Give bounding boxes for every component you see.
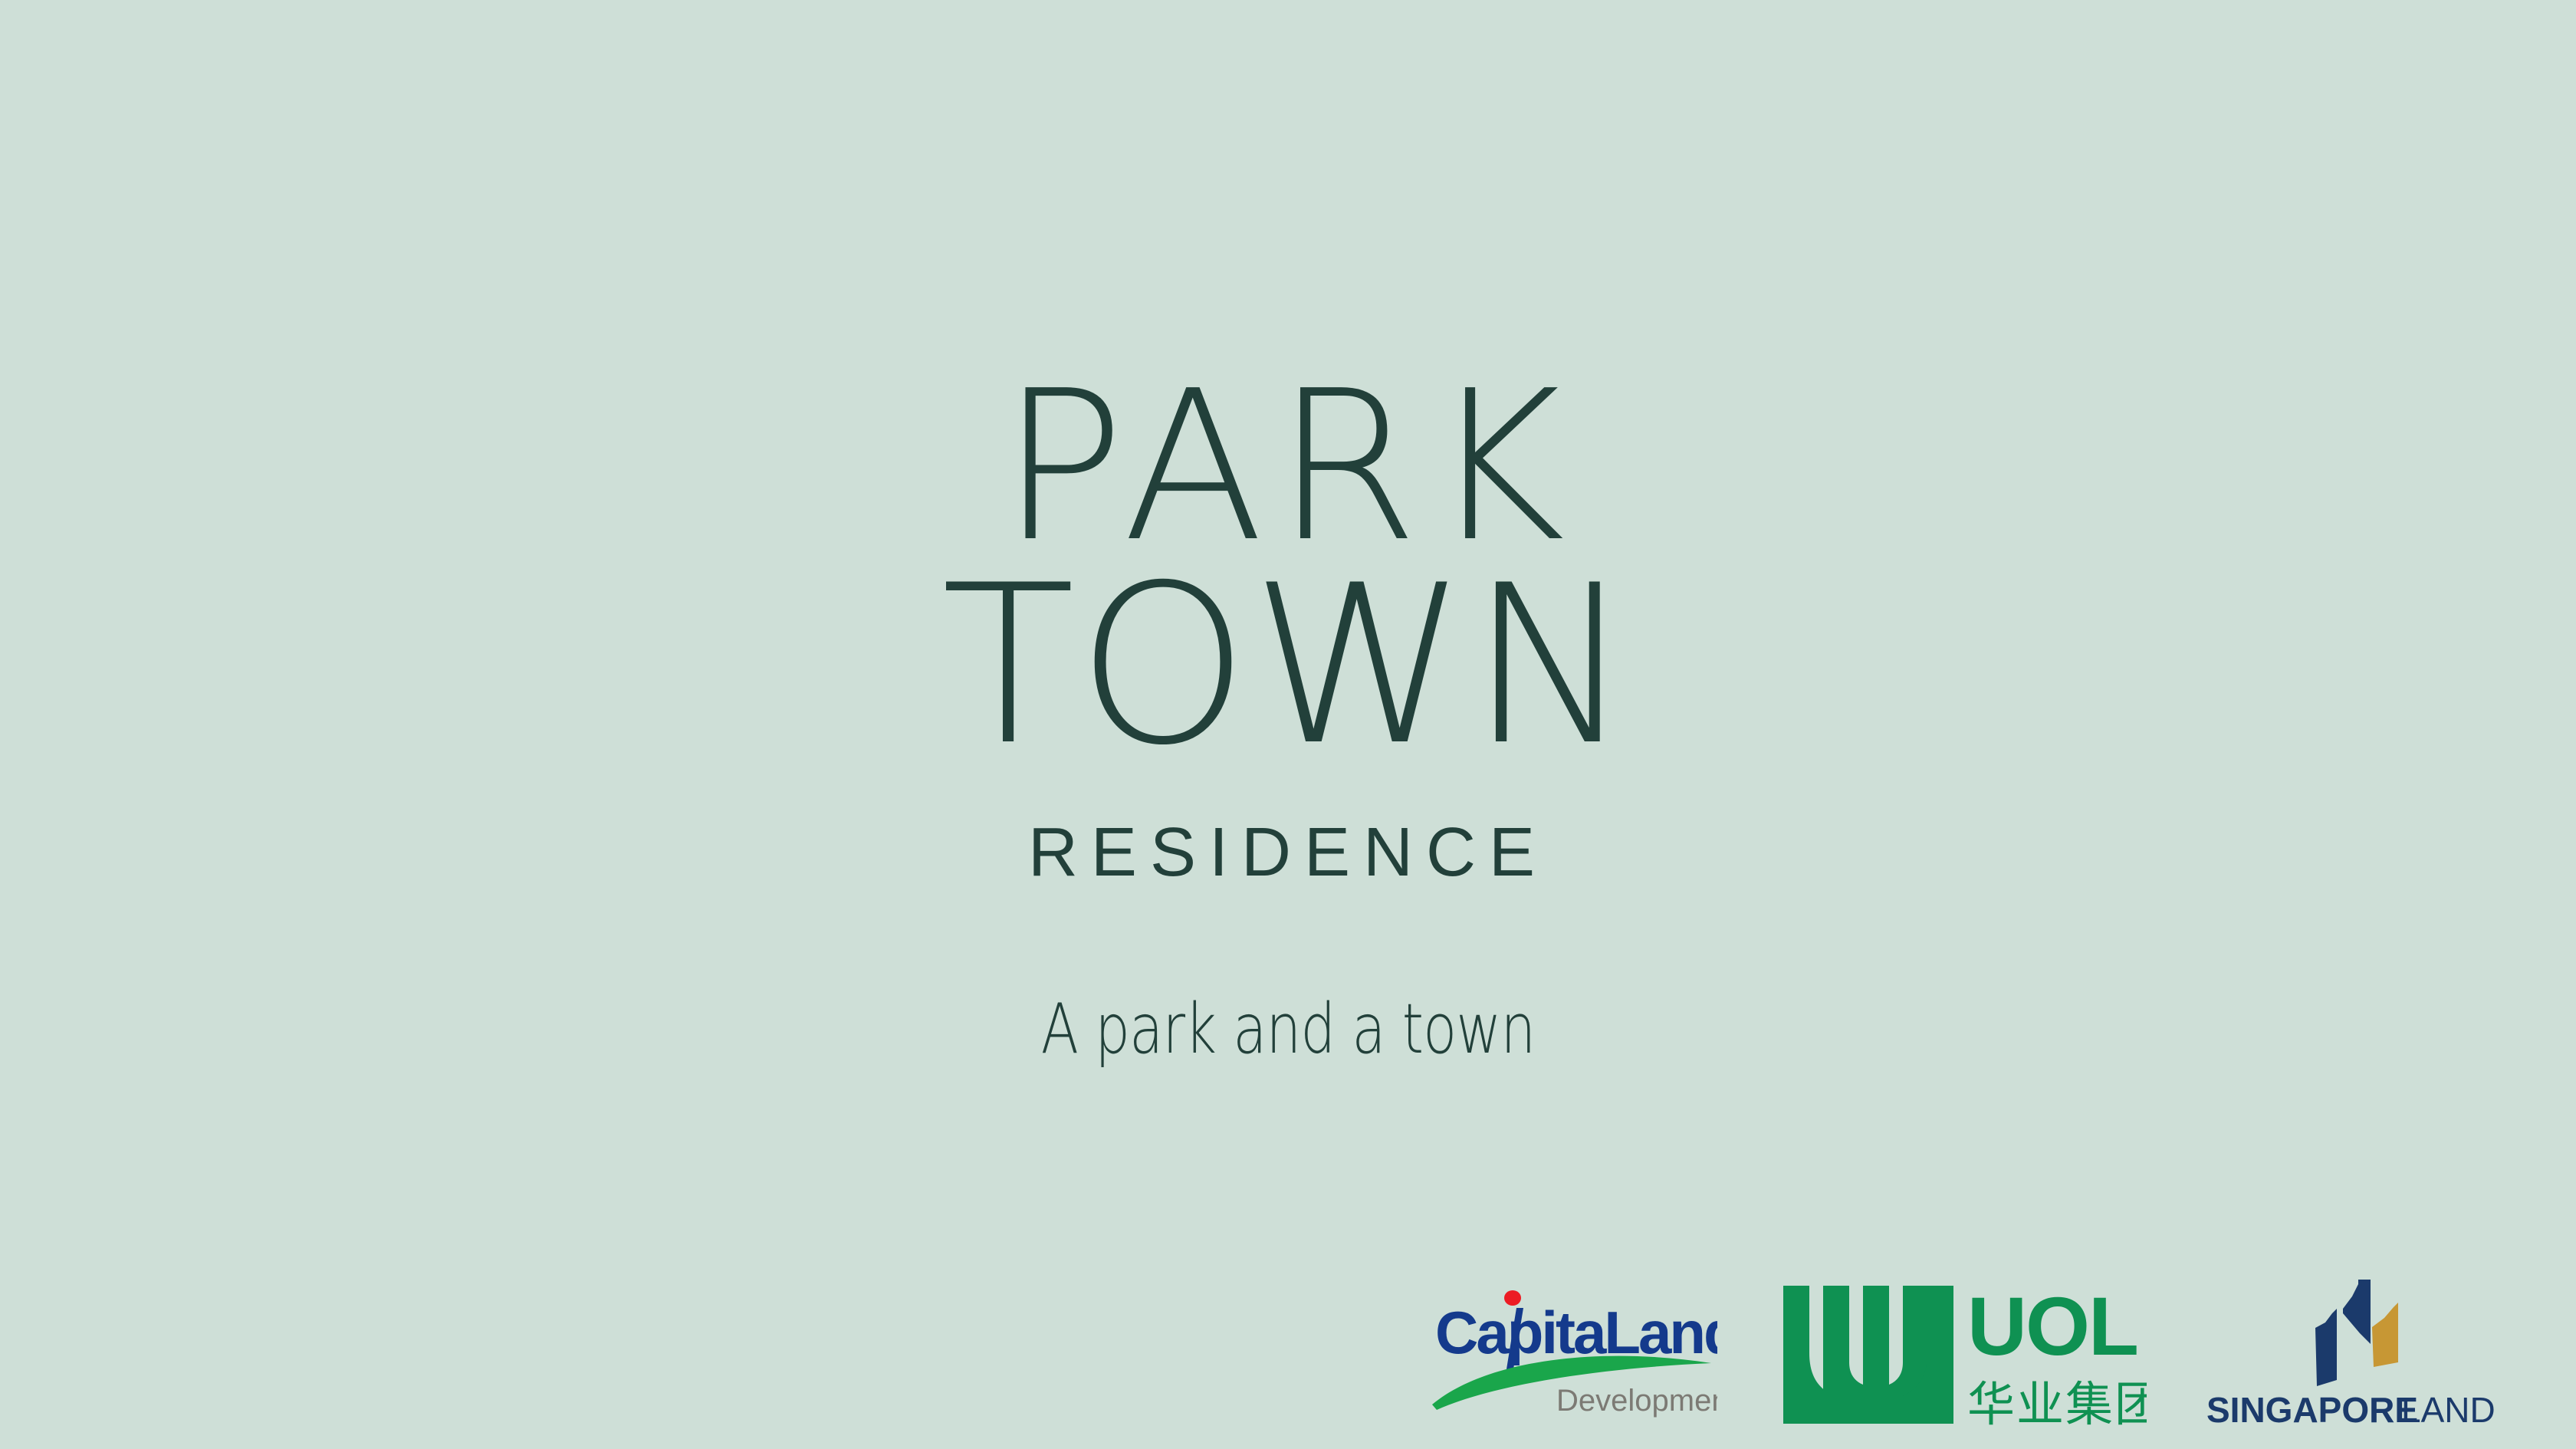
uol-logo-graphic: UOL 华业集团 [1779,1269,2147,1434]
singaporeland-logo[interactable]: SINGAPORE LAND [2200,1276,2530,1434]
uol-logo[interactable]: UOL 华业集团 [1779,1269,2147,1434]
uol-symbol-icon [1783,1286,1953,1424]
presentation-slide: PARK TOWN RESIDENCE A park and a town Ca… [0,0,2576,1449]
partner-logo-strip: CapitaLand Development UOL [1426,1269,2530,1434]
capitaland-development-logo[interactable]: CapitaLand Development [1426,1273,1717,1434]
uol-wordmark-text: UOL [1967,1280,2137,1372]
capitaland-subtitle-text: Development [1556,1384,1717,1418]
brand-subtitle-residence: RESIDENCE [905,813,1671,897]
singaporeland-wordmark-bold-text: SINGAPORE [2206,1390,2418,1430]
singaporeland-wordmark-light-text: LAND [2401,1390,2495,1430]
capitaland-wordmark-text: CapitaLand [1435,1299,1717,1366]
brand-title-park-text: PARK [1001,360,1576,575]
brand-title-park: PARK [905,360,1671,575]
brand-tagline: A park and a town [905,978,1671,1081]
capitaland-logo-graphic: CapitaLand Development [1426,1273,1717,1434]
brand-subtitle-residence-text: RESIDENCE [1028,814,1548,891]
singaporeland-logo-graphic: SINGAPORE LAND [2200,1276,2530,1434]
brand-tagline-text: A park and a town [1041,989,1536,1069]
uol-chinese-name-text: 华业集团 [1967,1376,2147,1432]
brand-lockup: PARK TOWN RESIDENCE A park and a town [0,0,2576,1449]
brand-title-town-text: TOWN [941,563,1635,778]
brand-title-town: TOWN [905,563,1671,778]
singaporeland-towers-icon [2315,1280,2398,1386]
